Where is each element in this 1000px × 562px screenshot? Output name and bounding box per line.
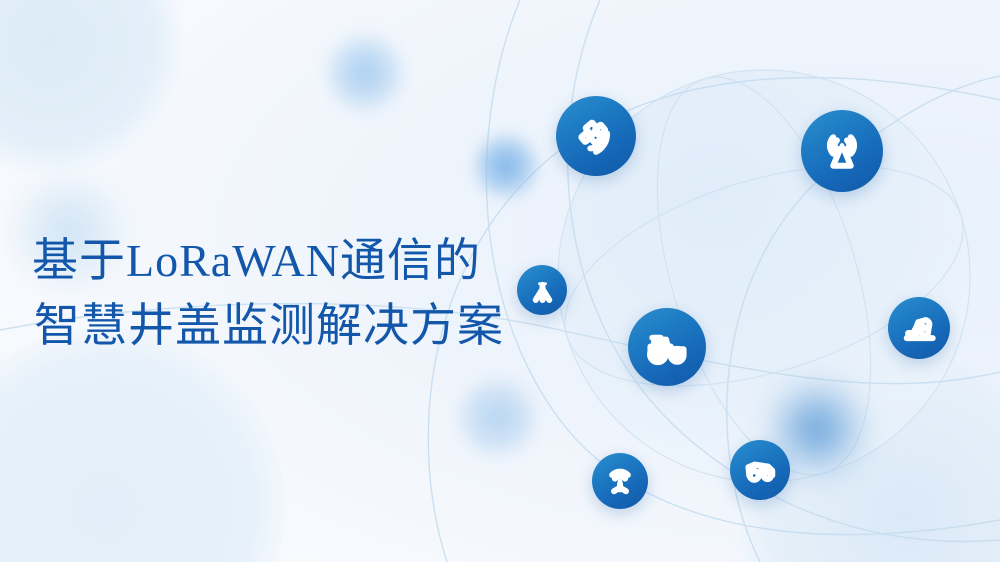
node-oil-pumpjack[interactable] bbox=[888, 297, 950, 359]
tractor-icon bbox=[644, 324, 690, 370]
node-robot-mower[interactable] bbox=[730, 440, 790, 500]
node-radio-tower[interactable] bbox=[801, 110, 883, 192]
radio-tower-icon bbox=[819, 128, 865, 174]
title-line-1: 基于LoRaWAN通信的 bbox=[32, 228, 504, 293]
survey-tripod-icon bbox=[529, 277, 556, 304]
robot-mower-icon bbox=[743, 453, 777, 487]
node-survey-tripod[interactable] bbox=[517, 265, 567, 315]
slide-title: 基于LoRaWAN通信的 智慧井盖监测解决方案 bbox=[32, 228, 504, 359]
title-line-2: 智慧井盖监测解决方案 bbox=[32, 293, 504, 358]
presentation-cover-slide: 基于LoRaWAN通信的 智慧井盖监测解决方案 bbox=[0, 0, 1000, 562]
oil-pumpjack-icon bbox=[901, 310, 937, 346]
satellite-signal-icon bbox=[574, 114, 618, 158]
node-wireless-sensor[interactable] bbox=[592, 453, 648, 509]
node-tractor[interactable] bbox=[628, 308, 706, 386]
node-satellite[interactable] bbox=[556, 96, 636, 176]
wireless-sensor-icon bbox=[605, 466, 635, 496]
